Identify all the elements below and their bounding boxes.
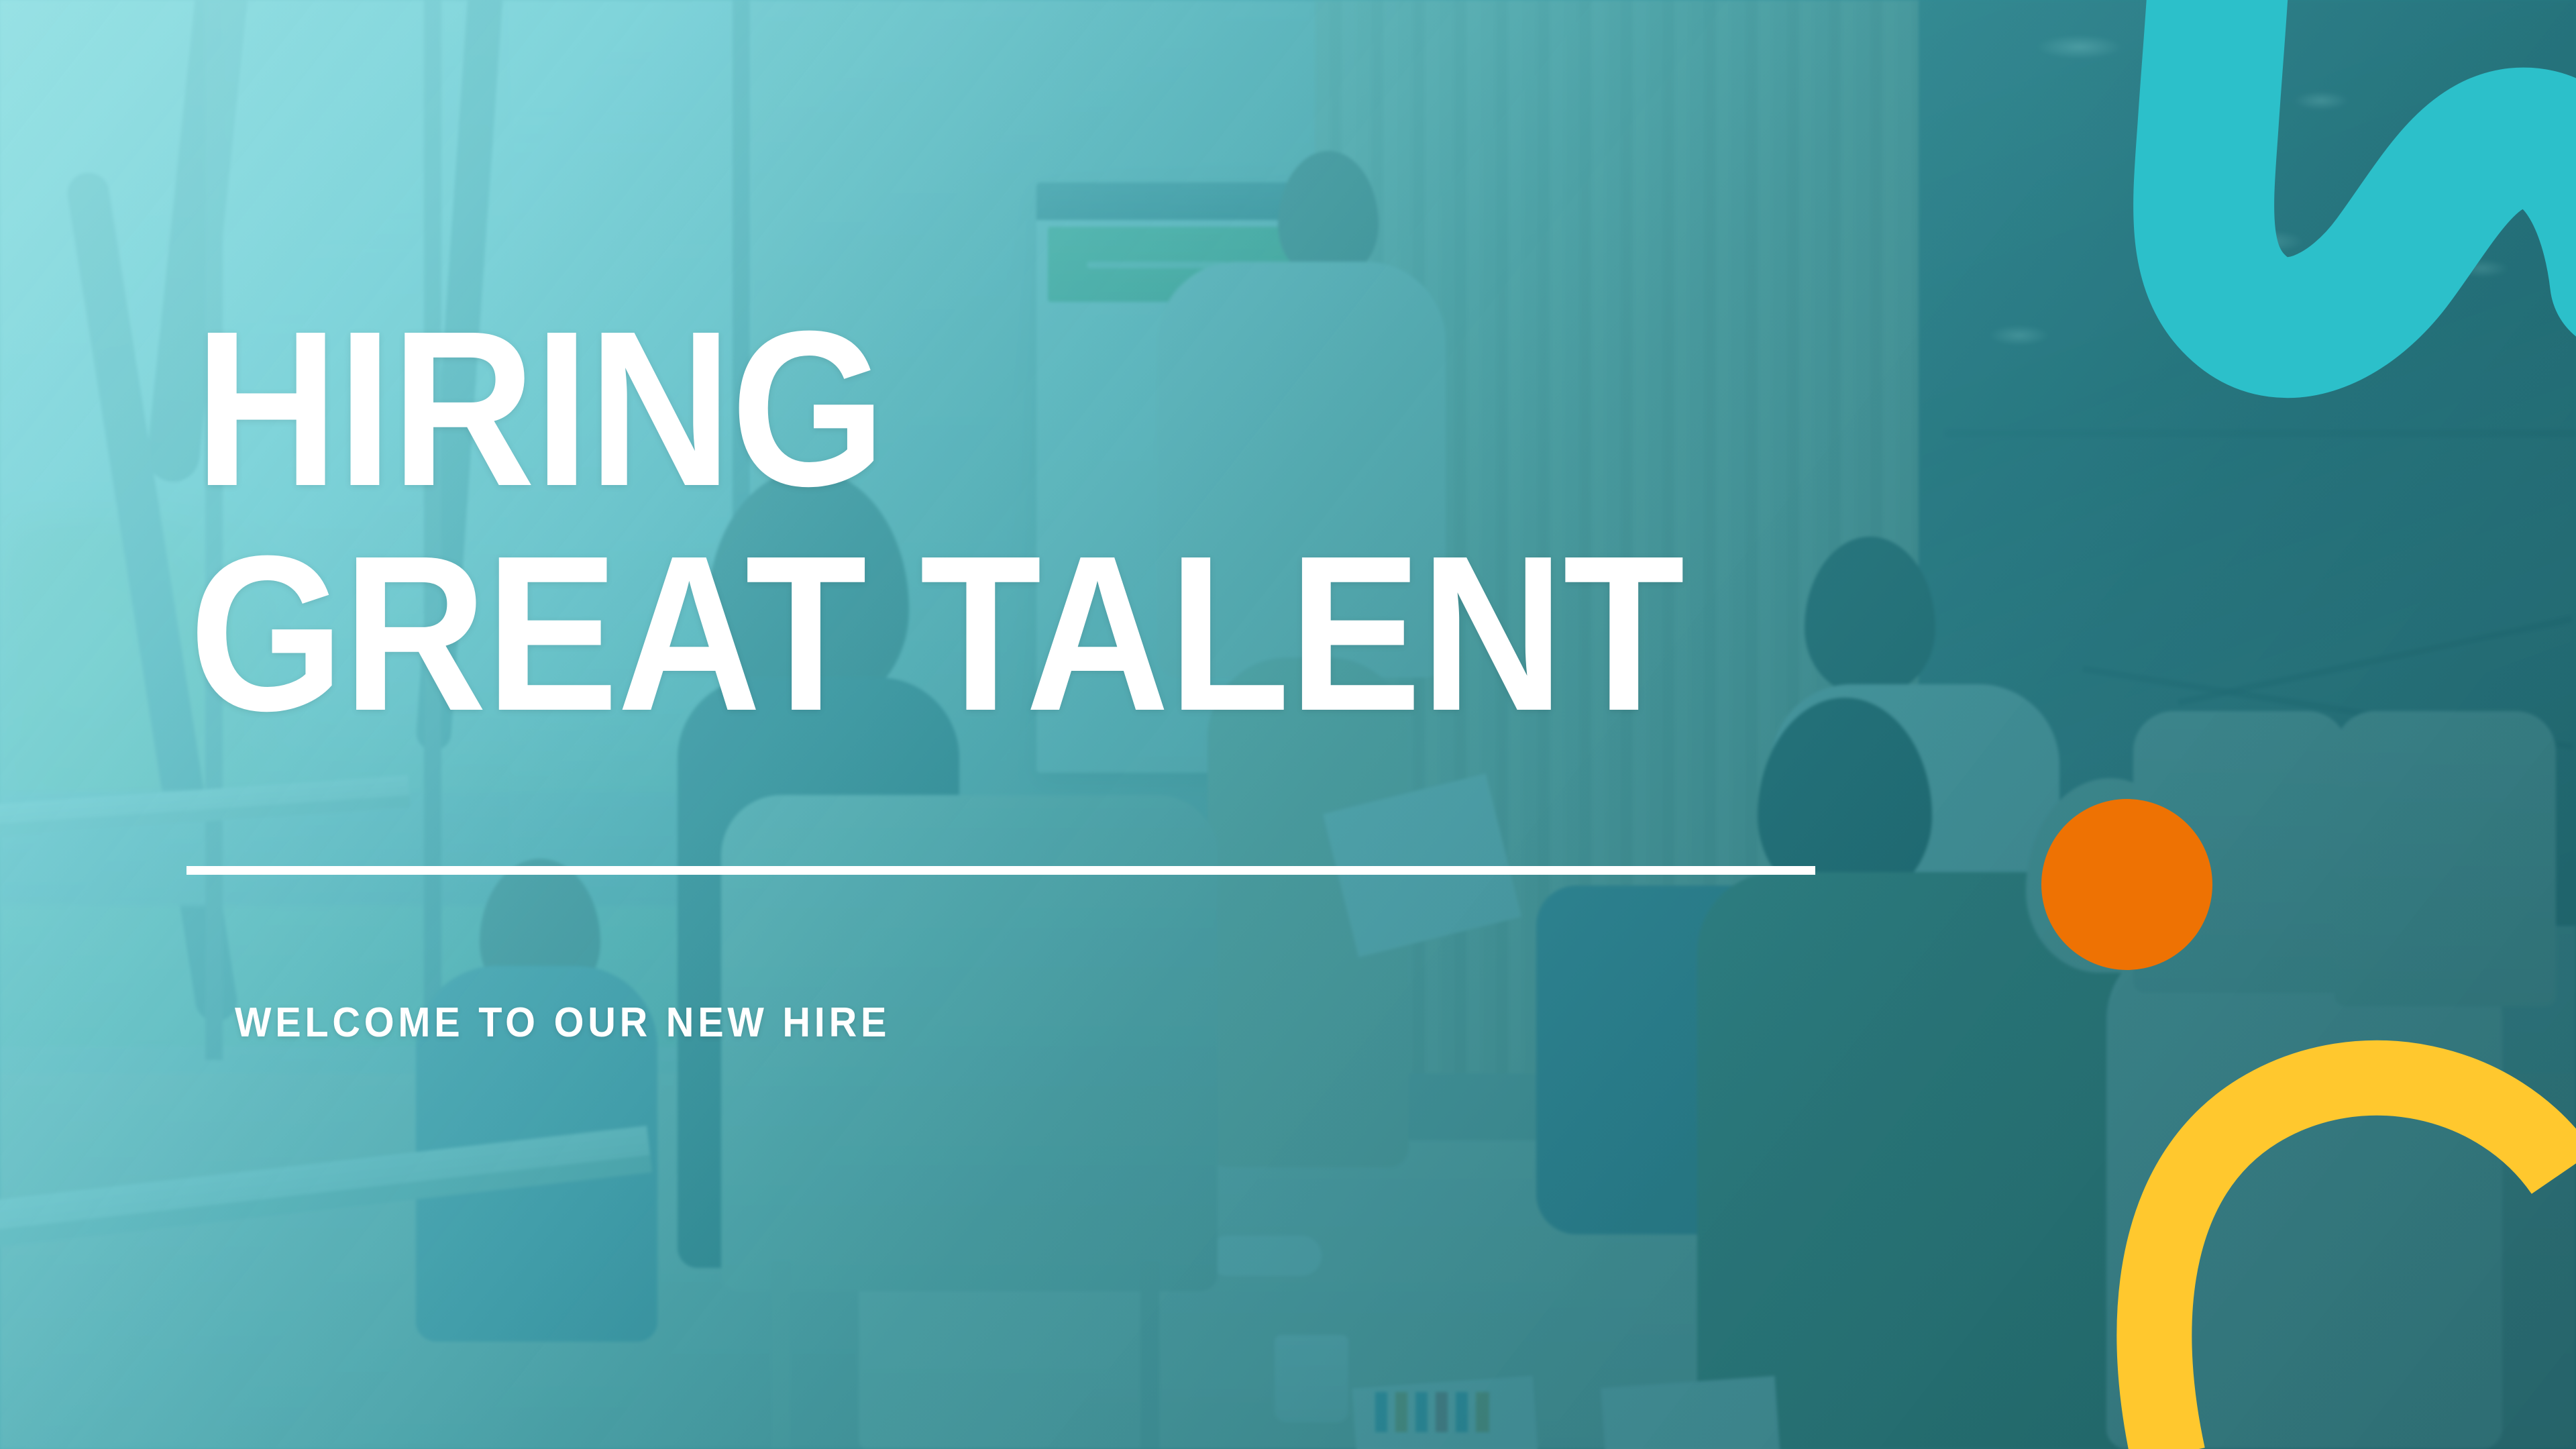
banner-content: HIRING GREAT TALENT WELCOME TO OUR NEW H… <box>0 0 2576 1449</box>
page-title-line-2: GREAT TALENT <box>189 540 1684 726</box>
hiring-banner: HIRING GREAT TALENT WELCOME TO OUR NEW H… <box>0 0 2576 1449</box>
page-subtitle: WELCOME TO OUR NEW HIRE <box>235 1002 890 1044</box>
white-divider-rule <box>186 866 1815 875</box>
page-title-line-1: HIRING <box>195 315 885 501</box>
